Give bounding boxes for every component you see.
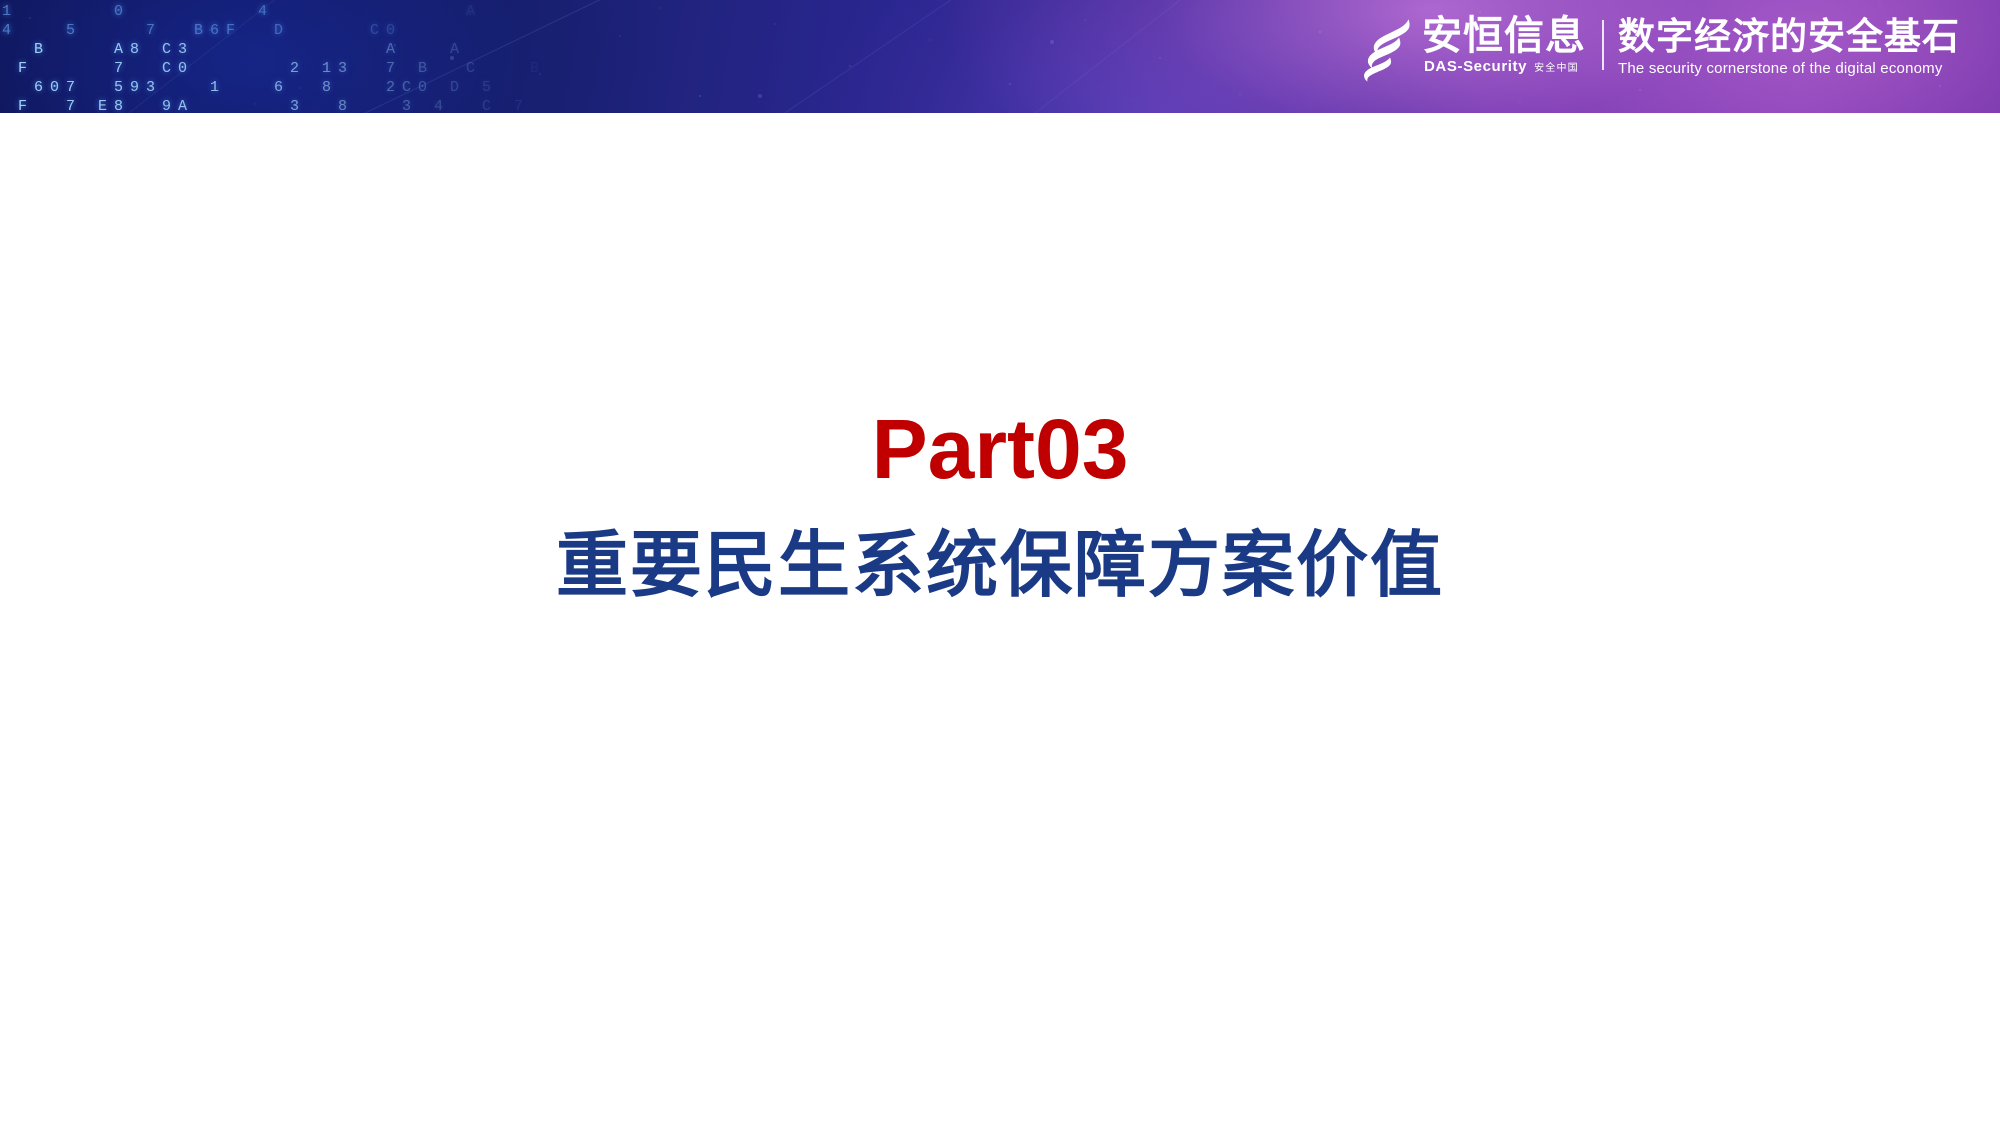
brand-slogan-cn: 数字经济的安全基石 (1618, 16, 1960, 58)
brand-name-latin: DAS-Security (1424, 59, 1527, 75)
brand-name-sub: DAS-Security 安全中国 (1424, 59, 1586, 75)
brand-slogan-en: The security cornerstone of the digital … (1618, 60, 1960, 77)
banner-hex-code-overlay: 1 0 4 A 4 5 7 B6F D C0 6 B A8 C3 A A A F… (0, 0, 562, 113)
brand-logo-lockup: 安恒信息 DAS-Security 安全中国 数字经济的安全基石 The sec… (1358, 14, 1960, 86)
header-banner: 1 0 4 A 4 5 7 B6F D C0 6 B A8 C3 A A A F… (0, 0, 2000, 113)
das-security-swirl-logo-icon (1358, 16, 1416, 82)
page-title: 重要民生系统保障方案价值 (0, 521, 2000, 609)
logo-divider (1602, 20, 1604, 70)
brand-name-latin-cn: 安全中国 (1534, 63, 1579, 75)
brand-name-block: 安恒信息 DAS-Security 安全中国 (1422, 14, 1586, 75)
slide-body: Part03 重要民生系统保障方案价值 (0, 113, 2000, 1125)
part-label: Part03 (0, 401, 2000, 497)
brand-name-cn: 安恒信息 (1422, 14, 1586, 58)
brand-slogan-block: 数字经济的安全基石 The security cornerstone of th… (1618, 14, 1960, 77)
section-title-group: Part03 重要民生系统保障方案价值 (0, 401, 2000, 609)
slide-root: 1 0 4 A 4 5 7 B6F D C0 6 B A8 C3 A A A F… (0, 0, 2000, 1125)
